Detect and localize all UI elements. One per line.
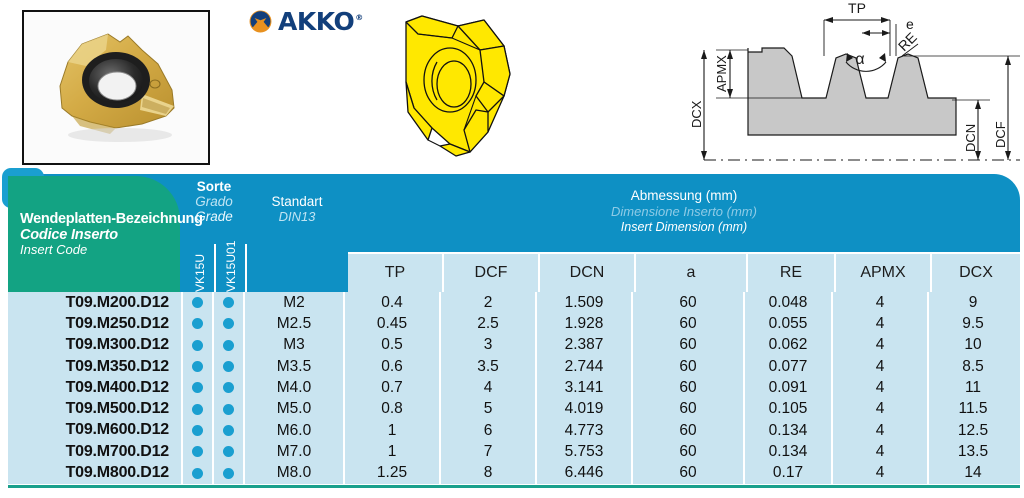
table-cell: 9 — [929, 292, 1017, 313]
table-bottom-rule — [8, 485, 1020, 488]
table-cell: T09.M500.D12 — [8, 398, 181, 419]
column-grade-vk15u — [183, 292, 214, 484]
insert-specification-table: Wendeplatten-Bezeichnung Codice Inserto … — [0, 168, 1024, 498]
table-cell — [183, 441, 212, 462]
insert-photo-graphic — [24, 12, 208, 163]
dimension-label-it: Dimensione Inserto (mm) — [348, 204, 1020, 220]
grade-available-dot-icon — [192, 297, 203, 308]
table-cell: 11.5 — [929, 398, 1017, 419]
table-cell — [183, 292, 212, 313]
table-cell: 0.091 — [745, 377, 831, 398]
table-cell — [214, 441, 243, 462]
table-cell: 1.25 — [345, 462, 439, 483]
table-cell: 2.744 — [537, 356, 631, 377]
column-re: 0.0480.0550.0620.0770.0910.1050.1340.134… — [745, 292, 833, 484]
column-a: 606060606060606060 — [633, 292, 745, 484]
table-cell: 0.134 — [745, 441, 831, 462]
insert-code-header-panel: Wendeplatten-Bezeichnung Codice Inserto … — [8, 176, 180, 292]
grade-label-en: Grade — [183, 210, 245, 225]
column-header-dcn: DCN — [540, 252, 636, 292]
grade-available-dot-icon — [192, 468, 203, 479]
table-cell: M8.0 — [245, 462, 343, 483]
table-cell: 60 — [633, 398, 743, 419]
table-cell — [214, 356, 243, 377]
column-header-a: a — [636, 252, 748, 292]
table-cell: M4.0 — [245, 377, 343, 398]
standard-label: Standart — [249, 194, 345, 210]
table-cell: M3.5 — [245, 356, 343, 377]
table-cell: 8 — [441, 462, 535, 483]
akko-logo-text: AKKO® — [278, 9, 363, 34]
table-cell: 14 — [929, 462, 1017, 483]
column-header-dcf: DCF — [444, 252, 540, 292]
table-cell: 60 — [633, 313, 743, 334]
diagram-label-re: RE — [895, 29, 920, 54]
table-cell: T09.M300.D12 — [8, 335, 181, 356]
standard-group-header: Standart DIN13 — [249, 194, 345, 224]
grade-available-dot-icon — [192, 446, 203, 457]
diagram-label-apmx: APMX — [714, 55, 729, 92]
header-title-de: Wendeplatten-Bezeichnung — [20, 212, 180, 228]
table-cell — [183, 377, 212, 398]
table-cell: 2.5 — [441, 313, 535, 334]
column-header-dcx: DCX — [932, 252, 1020, 292]
table-cell: 2 — [441, 292, 535, 313]
grade-label-de: Sorte — [183, 180, 245, 195]
table-cell: 7 — [441, 441, 535, 462]
table-cell: 1 — [345, 441, 439, 462]
dimension-column-headers: TP DCF DCN a RE APMX DCX — [348, 252, 1020, 292]
table-cell: 4 — [833, 462, 927, 483]
grade-available-dot-icon — [192, 382, 203, 393]
table-cell: 0.105 — [745, 398, 831, 419]
table-cell: T09.M250.D12 — [8, 313, 181, 334]
standard-norm-label: DIN13 — [249, 210, 345, 225]
table-cell: 60 — [633, 292, 743, 313]
product-imagery-band: AKKO® — [0, 0, 1024, 170]
insert-3d-cad-model — [392, 4, 564, 169]
table-cell — [183, 335, 212, 356]
akko-logo: AKKO® — [248, 6, 363, 36]
diagram-label-alpha: α — [855, 51, 864, 68]
dimension-group-header: Abmessung (mm) Dimensione Inserto (mm) I… — [348, 188, 1020, 235]
diagram-label-dcn: DCN — [963, 124, 978, 152]
column-dcn: 1.5091.9282.3872.7443.1414.0194.7735.753… — [537, 292, 633, 484]
grade-available-dot-icon — [192, 318, 203, 329]
registered-mark: ® — [355, 13, 363, 22]
table-cell: 4.019 — [537, 398, 631, 419]
table-cell: 12.5 — [929, 420, 1017, 441]
table-cell: M2 — [245, 292, 343, 313]
grade-available-dot-icon — [223, 382, 234, 393]
table-cell: 4 — [833, 377, 927, 398]
grade-available-dot-icon — [223, 318, 234, 329]
column-grade-vk15u01 — [214, 292, 245, 484]
table-cell: 60 — [633, 441, 743, 462]
grade-available-dot-icon — [223, 361, 234, 372]
column-dcf: 22.533.545678 — [441, 292, 537, 484]
table-cell: 0.6 — [345, 356, 439, 377]
column-header-tp: TP — [348, 252, 444, 292]
table-cell: 1.928 — [537, 313, 631, 334]
table-cell: 0.5 — [345, 335, 439, 356]
table-cell — [214, 420, 243, 441]
table-cell: 4 — [833, 398, 927, 419]
table-cell — [214, 313, 243, 334]
dimension-label-de: Abmessung (mm) — [348, 188, 1020, 204]
table-cell: 60 — [633, 335, 743, 356]
table-cell: T09.M200.D12 — [8, 292, 181, 313]
table-cell: 60 — [633, 377, 743, 398]
table-cell: 0.7 — [345, 377, 439, 398]
table-cell — [214, 398, 243, 419]
grade-available-dot-icon — [223, 425, 234, 436]
table-cell: 0.055 — [745, 313, 831, 334]
table-cell: 13.5 — [929, 441, 1017, 462]
table-cell: 0.062 — [745, 335, 831, 356]
table-cell: 0.4 — [345, 292, 439, 313]
diagram-label-dcx: DCX — [690, 100, 704, 128]
table-cell: 6 — [441, 420, 535, 441]
table-cell: 1 — [345, 420, 439, 441]
grade-available-dot-icon — [223, 297, 234, 308]
grade-available-dot-icon — [192, 361, 203, 372]
grade-available-dot-icon — [223, 404, 234, 415]
table-cell: 0.077 — [745, 356, 831, 377]
column-insert-code: T09.M200.D12T09.M250.D12T09.M300.D12T09.… — [8, 292, 183, 484]
table-cell: T09.M700.D12 — [8, 441, 181, 462]
grade-available-dot-icon — [192, 425, 203, 436]
table-cell: 1.509 — [537, 292, 631, 313]
table-cell — [214, 292, 243, 313]
table-cell: 6.446 — [537, 462, 631, 483]
table-cell: 10 — [929, 335, 1017, 356]
table-cell: 9.5 — [929, 313, 1017, 334]
column-header-apmx: APMX — [836, 252, 932, 292]
table-cell: T09.M600.D12 — [8, 420, 181, 441]
grade-available-dot-icon — [192, 404, 203, 415]
column-apmx: 444444444 — [833, 292, 929, 484]
table-cell: 3.141 — [537, 377, 631, 398]
table-cell: 8.5 — [929, 356, 1017, 377]
table-cell: 0.17 — [745, 462, 831, 483]
grade-available-dot-icon — [223, 446, 234, 457]
column-tp: 0.40.450.50.60.70.8111.25 — [345, 292, 441, 484]
table-cell — [183, 313, 212, 334]
table-cell: 4 — [833, 292, 927, 313]
grade-available-dot-icon — [223, 340, 234, 351]
table-cell: 4 — [833, 441, 927, 462]
dimension-label-en: Insert Dimension (mm) — [348, 220, 1020, 235]
table-cell — [183, 398, 212, 419]
table-cell: 0.134 — [745, 420, 831, 441]
grade-column-header-vk15u01: VK15U01 — [216, 246, 246, 292]
thread-profile-diagram: TP e RE α APMX DCX DCN DCF — [690, 0, 1024, 171]
table-cell: 3.5 — [441, 356, 535, 377]
table-cell: 4 — [833, 420, 927, 441]
table-cell: 2.387 — [537, 335, 631, 356]
table-cell: 0.048 — [745, 292, 831, 313]
table-cell: 11 — [929, 377, 1017, 398]
header-title-en: Insert Code — [20, 243, 180, 257]
insert-product-photo-frame — [22, 10, 210, 165]
table-cell: 60 — [633, 462, 743, 483]
column-standard: M2M2.5M3M3.5M4.0M5.0M6.0M7.0M8.0 — [245, 292, 345, 484]
table-cell — [183, 462, 212, 483]
table-cell: 4 — [833, 356, 927, 377]
table-cell: T09.M800.D12 — [8, 462, 181, 483]
table-cell — [183, 420, 212, 441]
column-header-re: RE — [748, 252, 836, 292]
table-cell: 0.8 — [345, 398, 439, 419]
grade-label-it: Grado — [183, 195, 245, 210]
table-cell — [214, 377, 243, 398]
table-cell — [214, 335, 243, 356]
table-cell — [214, 462, 243, 483]
table-cell: 60 — [633, 356, 743, 377]
table-cell: M5.0 — [245, 398, 343, 419]
table-cell: T09.M400.D12 — [8, 377, 181, 398]
grade-available-dot-icon — [192, 340, 203, 351]
diagram-label-tp: TP — [848, 0, 866, 16]
table-cell: 4 — [833, 313, 927, 334]
grade-group-header: Sorte Grado Grade — [183, 176, 245, 244]
table-cell: 3 — [441, 335, 535, 356]
table-cell: M7.0 — [245, 441, 343, 462]
table-cell: 5.753 — [537, 441, 631, 462]
brand-name: AKKO — [278, 7, 354, 36]
table-cell: 60 — [633, 420, 743, 441]
insert-code-header-titles: Wendeplatten-Bezeichnung Codice Inserto … — [20, 212, 180, 257]
column-dcx: 99.5108.51111.512.513.514 — [929, 292, 1017, 484]
table-cell: 5 — [441, 398, 535, 419]
table-cell — [183, 356, 212, 377]
grade-column-header-vk15u: VK15U — [185, 246, 215, 292]
table-cell: 4.773 — [537, 420, 631, 441]
table-cell: M3 — [245, 335, 343, 356]
table-cell: 0.45 — [345, 313, 439, 334]
table-body: T09.M200.D12T09.M250.D12T09.M300.D12T09.… — [8, 292, 1020, 484]
akko-logo-mark-icon — [248, 9, 273, 34]
table-cell: M6.0 — [245, 420, 343, 441]
insert-product-photo — [24, 12, 208, 163]
table-cell: M2.5 — [245, 313, 343, 334]
table-cell: 4 — [833, 335, 927, 356]
table-cell: 4 — [441, 377, 535, 398]
grade-available-dot-icon — [223, 468, 234, 479]
header-title-it: Codice Inserto — [20, 228, 180, 244]
table-cell: T09.M350.D12 — [8, 356, 181, 377]
diagram-label-dcf: DCF — [993, 121, 1008, 148]
